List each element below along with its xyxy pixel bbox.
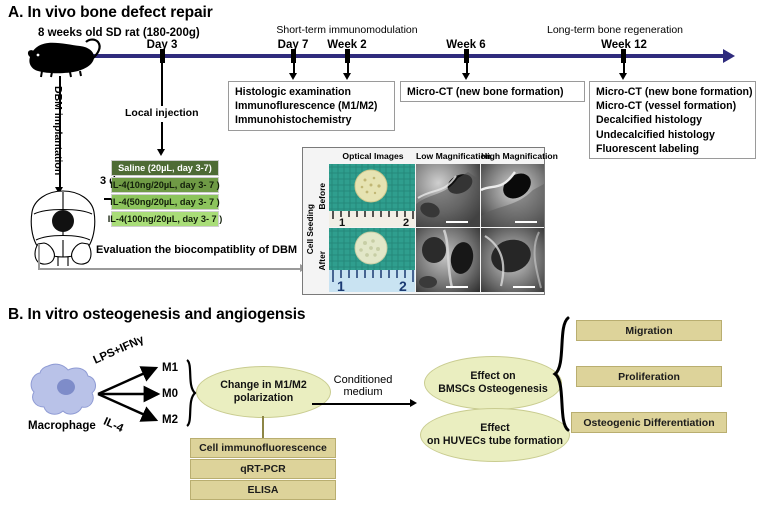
outcome-line: Immunohistochemistry: [235, 113, 388, 127]
timeline-tick-day7: [291, 49, 296, 63]
outcome-line: Micro-CT (vessel formation): [596, 99, 749, 113]
drop-arrow-week12-icon: [619, 73, 627, 80]
biocompat-line-horz: [38, 268, 302, 270]
conditioned-medium-line-2: medium: [308, 386, 418, 398]
microscopy-row-label-after: After: [316, 230, 328, 292]
svg-text:2: 2: [399, 278, 407, 292]
drop-arrow-week2-icon: [343, 73, 351, 80]
conditioned-medium-arrow-icon: [410, 399, 417, 407]
conditioned-medium-label: Conditioned medium: [308, 374, 418, 398]
drop-arrow-day7-icon: [289, 73, 297, 80]
conditioned-medium-line: [312, 403, 412, 405]
assay-box-immunofluorescence: Cell immunofluorescence: [190, 438, 336, 458]
outcome-line: Fluorescent labeling: [596, 142, 749, 156]
effect-oval-huvecs: Effect on HUVECs tube formation: [420, 408, 570, 462]
dbm-implantation-label: DBM implantation: [52, 86, 68, 182]
timeline-tick-week6: [464, 49, 469, 63]
timeline-arrowhead-icon: [723, 49, 735, 63]
conditioned-medium-line-1: Conditioned: [308, 374, 418, 386]
optical-image-before: 1 2: [329, 164, 415, 227]
figure-canvas: A. In vivo bone defect repair 8 weeks ol…: [0, 0, 758, 507]
section-b-title: B. In vitro osteogenesis and angiogensis: [8, 306, 305, 324]
biocompatibility-label: Evaluation the biocompatiblity of DBM: [96, 244, 297, 256]
svg-text:1: 1: [337, 278, 345, 292]
effect-oval-huvecs-line-2: on HUVECs tube formation: [427, 435, 563, 449]
readout-box-migration: Migration: [576, 320, 722, 341]
readout-box-osteogenic-differentiation: Osteogenic Differentiation: [571, 412, 727, 433]
local-injection-label: Local injection: [125, 107, 199, 119]
phase-label-long-term: Long-term bone regeneration: [500, 24, 730, 36]
readout-box-proliferation: Proliferation: [576, 366, 722, 387]
effect-oval-huvecs-line-1: Effect: [480, 422, 509, 436]
treatment-group-saline: Saline (20µL, day 3-7): [111, 160, 219, 176]
biocompat-line-vert: [38, 244, 40, 270]
outcome-line: Histologic examination: [235, 85, 388, 99]
assay-box-elisa: ELISA: [190, 480, 336, 500]
microscopy-row-group-label: Cell Seeding: [304, 166, 316, 292]
svg-text:2: 2: [403, 217, 409, 227]
effect-oval-bmscs-line-2: BMSCs Osteogenesis: [438, 383, 548, 397]
skull-defect-illustration: [20, 188, 106, 266]
drop-arrow-week6-icon: [462, 73, 470, 80]
phenotype-label-m2: M2: [162, 414, 178, 426]
microscopy-col-header-low-mag: Low Magnification: [416, 151, 482, 161]
outcome-box-week6: Micro-CT (new bone formation): [400, 81, 585, 102]
local-injection-arrow-icon: [157, 149, 165, 156]
outcome-line: Micro-CT (new bone formation): [596, 85, 749, 99]
treatment-group-il4-10ng: IL-4(10ng/20µL, day 3- 7 ): [111, 177, 219, 193]
microscopy-col-header-optical: Optical Images: [331, 151, 415, 161]
timeline-tick-week2: [345, 49, 350, 63]
microscopy-row-label-before: Before: [316, 166, 328, 227]
svg-text:1: 1: [339, 217, 345, 227]
rat-illustration-icon: [18, 38, 108, 78]
timeline-tick-week12: [621, 49, 626, 63]
microscopy-panel: Optical Images Low Magnification High Ma…: [302, 147, 545, 295]
outcome-box-short-term: Histologic examination Immunoflurescence…: [228, 81, 395, 131]
sem-image-after-high-mag: [481, 228, 544, 292]
treatment-group-il4-100ng: IL-4(100ng/20µL, day 3- 7 ): [111, 211, 219, 227]
microscopy-col-header-high-mag: High Magnification: [481, 151, 545, 161]
optical-image-after: 1 2: [329, 228, 415, 292]
assay-connector-line: [262, 416, 264, 440]
effect-oval-bmscs-line-1: Effect on: [470, 370, 515, 384]
effect-oval-bmscs: Effect on BMSCs Osteogenesis: [424, 356, 562, 410]
polarization-oval-line-2: polarization: [234, 392, 293, 406]
timeline-axis: [88, 54, 726, 58]
outcome-line: Immunoflurescence (M1/M2): [235, 99, 388, 113]
outcome-line: Micro-CT (new bone formation): [407, 85, 578, 99]
phenotype-label-m0: M0: [162, 388, 178, 400]
polarization-oval-line-1: Change in M1/M2: [220, 379, 307, 393]
sem-image-before-high-mag: [481, 164, 544, 227]
treatment-group-il4-50ng: IL-4(50ng/20µL, day 3- 7 ): [111, 194, 219, 210]
phase-label-short-term: Short-term immunomodulation: [252, 24, 442, 36]
local-injection-line-upper: [161, 62, 163, 106]
timeline-tick-day3: [160, 49, 165, 63]
assay-box-qrt-pcr: qRT-PCR: [190, 459, 336, 479]
macrophage-cell-icon: [28, 362, 98, 418]
phenotype-label-m1: M1: [162, 362, 178, 374]
sem-image-after-low-mag: [416, 228, 480, 292]
outcome-line: Undecalcified histology: [596, 128, 749, 142]
outcome-line: Decalcified histology: [596, 113, 749, 127]
section-a-title: A. In vivo bone defect repair: [8, 4, 213, 22]
macrophage-label: Macrophage: [28, 420, 96, 432]
local-injection-line-lower: [161, 122, 163, 150]
sem-image-before-low-mag: [416, 164, 480, 227]
outcome-box-week12: Micro-CT (new bone formation) Micro-CT (…: [589, 81, 756, 159]
